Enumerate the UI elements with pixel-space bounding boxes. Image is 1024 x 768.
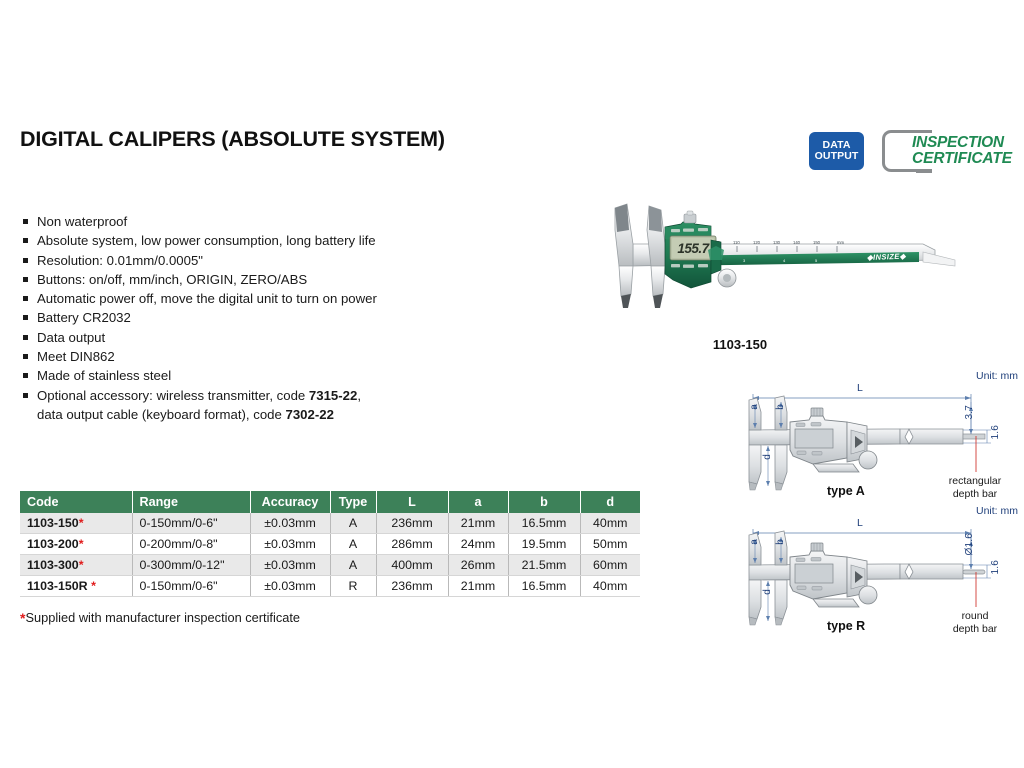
feature-item: Automatic power off, move the digital un…: [22, 289, 472, 308]
cell-type: A: [330, 513, 376, 534]
feature-text: Buttons: on/off, mm/inch, ORIGIN, ZERO/A…: [37, 272, 307, 287]
cell-code: 1103-200*: [20, 534, 132, 555]
cell-a: 21mm: [448, 513, 508, 534]
code-value: 1103-300: [27, 558, 79, 572]
badge-group: DATA OUTPUT INSPECTION CERTIFICATE: [809, 128, 1012, 174]
bullet-icon: [23, 277, 28, 282]
cell-type: R: [330, 576, 376, 597]
bullet-icon: [23, 296, 28, 301]
bullet-icon: [23, 393, 28, 398]
cell-d: 50mm: [580, 534, 640, 555]
cell-b: 16.5mm: [508, 576, 580, 597]
bullet-icon: [23, 373, 28, 378]
data-output-badge-line2: OUTPUT: [815, 151, 859, 162]
type-a-label: type A: [827, 484, 865, 498]
unit-label: Unit: mm: [976, 505, 1018, 517]
cell-d: 40mm: [580, 513, 640, 534]
certificate-star: *: [79, 558, 84, 572]
svg-text:150: 150: [813, 240, 821, 245]
table-header-type: Type: [330, 491, 376, 513]
inspection-certificate-line1: INSPECTION: [912, 135, 1012, 151]
cell-range: 0-150mm/0-6": [132, 513, 250, 534]
cell-l: 236mm: [376, 576, 448, 597]
brand-label: ◆INSIZE◆: [867, 252, 907, 262]
svg-text:110: 110: [733, 240, 740, 245]
lcd-value-text: 155.7: [677, 241, 710, 256]
cell-d: 40mm: [580, 576, 640, 597]
cell-l: 236mm: [376, 513, 448, 534]
caliper-illustration: 80 100 110 120 130 140 150 mm 2 3 4 5 ◆I…: [515, 190, 965, 320]
bullet-icon: [23, 315, 28, 320]
table-header-code: Code: [20, 491, 132, 513]
cell-a: 24mm: [448, 534, 508, 555]
certificate-star: *: [91, 579, 96, 593]
dimension-d-label: d: [762, 589, 773, 595]
cell-a: 26mm: [448, 555, 508, 576]
feature-text: Optional accessory: wireless transmitter…: [37, 388, 309, 403]
feature-list: Non waterproof Absolute system, low powe…: [22, 212, 472, 424]
cell-b: 19.5mm: [508, 534, 580, 555]
code-value: 1103-200: [27, 537, 79, 551]
feature-item: Data output: [22, 328, 472, 347]
bullet-icon: [23, 258, 28, 263]
feature-text: Automatic power off, move the digital un…: [37, 291, 377, 306]
feature-text: Made of stainless steel: [37, 368, 171, 383]
feature-text: Meet DIN862: [37, 349, 115, 364]
cell-accuracy: ±0.03mm: [250, 513, 330, 534]
table-row: 1103-200* 0-200mm/0-8" ±0.03mm A 286mm 2…: [20, 534, 640, 555]
feature-continuation: data output cable (keyboard format), cod…: [37, 405, 472, 424]
table-header-d: d: [580, 491, 640, 513]
table-footnote: *Supplied with manufacturer inspection c…: [20, 610, 300, 626]
type-r-label: type R: [827, 619, 865, 633]
code-value: 1103-150: [27, 516, 79, 530]
cell-accuracy: ±0.03mm: [250, 576, 330, 597]
accessory-code-2: 7302-22: [286, 407, 334, 422]
cell-d: 60mm: [580, 555, 640, 576]
svg-text:mm: mm: [837, 240, 844, 245]
diagram-type-r: Unit: mm: [735, 507, 1020, 637]
page-title: DIGITAL CALIPERS (ABSOLUTE SYSTEM): [20, 127, 445, 152]
feature-text: Data output: [37, 330, 105, 345]
inspection-certificate-badge: INSPECTION CERTIFICATE: [882, 128, 1012, 174]
dimension-b-label: b: [775, 539, 786, 545]
inspection-certificate-line2: CERTIFICATE: [912, 151, 1012, 167]
cell-range: 0-200mm/0-8": [132, 534, 250, 555]
dimension-L-label: L: [857, 517, 863, 529]
cell-code: 1103-300*: [20, 555, 132, 576]
code-value: 1103-150R: [27, 579, 88, 593]
certificate-star: *: [79, 537, 84, 551]
table-header-b: b: [508, 491, 580, 513]
table-row: 1103-150* 0-150mm/0-6" ±0.03mm A 236mm 2…: [20, 513, 640, 534]
svg-text:130: 130: [773, 240, 781, 245]
feature-continuation-text: data output cable (keyboard format), cod…: [37, 407, 286, 422]
dimension-b-label: b: [775, 404, 786, 410]
dimension-L-label: L: [857, 382, 863, 394]
table-row: 1103-150R * 0-150mm/0-6" ±0.03mm R 236mm…: [20, 576, 640, 597]
dimension-d-label: d: [762, 454, 773, 460]
cell-l: 400mm: [376, 555, 448, 576]
cell-b: 21.5mm: [508, 555, 580, 576]
specification-table: Code Range Accuracy Type L a b d 1103-15…: [20, 491, 640, 597]
table-header-a: a: [448, 491, 508, 513]
cell-b: 16.5mm: [508, 513, 580, 534]
cell-type: A: [330, 534, 376, 555]
dimension-a-label: a: [749, 404, 760, 410]
table-header-row: Code Range Accuracy Type L a b d: [20, 491, 640, 513]
certificate-star: *: [79, 516, 84, 530]
dimension-a-label: a: [749, 539, 760, 545]
cell-type: A: [330, 555, 376, 576]
callout-line1: round: [932, 610, 1018, 623]
product-caption: 1103-150: [515, 337, 965, 352]
unit-label: Unit: mm: [976, 370, 1018, 382]
svg-text:120: 120: [753, 240, 761, 245]
cell-l: 286mm: [376, 534, 448, 555]
bullet-icon: [23, 219, 28, 224]
feature-item: Resolution: 0.01mm/0.0005": [22, 251, 472, 270]
cell-accuracy: ±0.03mm: [250, 534, 330, 555]
bullet-icon: [23, 335, 28, 340]
callout-line2: depth bar: [932, 488, 1018, 501]
inspection-certificate-label: INSPECTION CERTIFICATE: [910, 135, 1012, 168]
diagram-type-a: Unit: mm: [735, 372, 1020, 502]
cell-range: 0-150mm/0-6": [132, 576, 250, 597]
bullet-icon: [23, 238, 28, 243]
feature-item: Absolute system, low power consumption, …: [22, 231, 472, 250]
callout-line1: rectangular: [932, 475, 1018, 488]
table-header-range: Range: [132, 491, 250, 513]
data-output-badge: DATA OUTPUT: [809, 132, 864, 170]
dimension-bottom-label: 1.6: [990, 560, 1001, 575]
svg-text:140: 140: [793, 240, 801, 245]
accessory-code-1: 7315-22: [309, 388, 357, 403]
depth-bar-callout: rectangular depth bar: [932, 475, 1018, 500]
dimension-top-label: 3.7: [964, 405, 975, 420]
cell-a: 21mm: [448, 576, 508, 597]
dimension-bottom-label: 1.6: [990, 425, 1001, 440]
cell-accuracy: ±0.03mm: [250, 555, 330, 576]
table-header-l: L: [376, 491, 448, 513]
feature-text: Battery CR2032: [37, 310, 131, 325]
cell-code: 1103-150*: [20, 513, 132, 534]
feature-item-optional-accessory: Optional accessory: wireless transmitter…: [22, 386, 472, 425]
feature-text: Absolute system, low power consumption, …: [37, 233, 376, 248]
cell-range: 0-300mm/0-12": [132, 555, 250, 576]
feature-text: Non waterproof: [37, 214, 127, 229]
feature-item: Made of stainless steel: [22, 366, 472, 385]
depth-bar-callout: round depth bar: [932, 610, 1018, 635]
footnote-text: Supplied with manufacturer inspection ce…: [25, 610, 300, 625]
callout-line2: depth bar: [932, 623, 1018, 636]
feature-item: Battery CR2032: [22, 308, 472, 327]
feature-text-suffix: ,: [357, 388, 361, 403]
bullet-icon: [23, 354, 28, 359]
table-row: 1103-300* 0-300mm/0-12" ±0.03mm A 400mm …: [20, 555, 640, 576]
dimension-top-label: Ø1.6: [964, 533, 975, 555]
feature-item: Buttons: on/off, mm/inch, ORIGIN, ZERO/A…: [22, 270, 472, 289]
feature-text: Resolution: 0.01mm/0.0005": [37, 253, 203, 268]
table-header-accuracy: Accuracy: [250, 491, 330, 513]
product-photo: 80 100 110 120 130 140 150 mm 2 3 4 5 ◆I…: [515, 190, 965, 320]
feature-item: Meet DIN862: [22, 347, 472, 366]
cell-code: 1103-150R *: [20, 576, 132, 597]
feature-item: Non waterproof: [22, 212, 472, 231]
